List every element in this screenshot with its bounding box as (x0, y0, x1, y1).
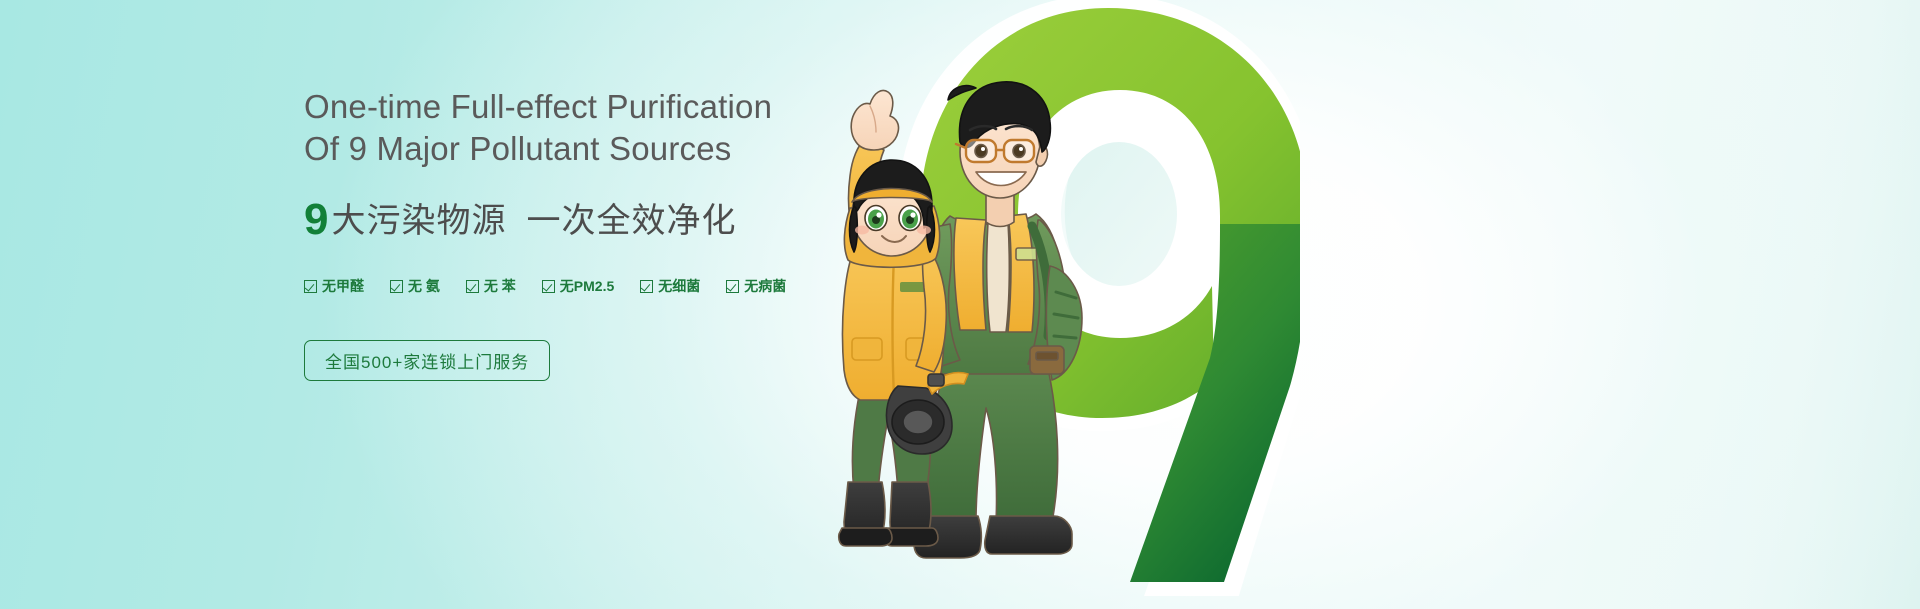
check-box-icon (466, 280, 479, 293)
check-box-icon (390, 280, 403, 293)
check-box-icon (726, 280, 739, 293)
feature-label: 无细菌 (658, 276, 700, 296)
feature-label: 无PM2.5 (560, 276, 614, 296)
feature-item: 无甲醛 (304, 276, 364, 296)
franchise-service-button[interactable]: 全国500+家连锁上门服务 (304, 340, 550, 381)
feature-label: 无 氨 (408, 276, 440, 296)
feature-item: 无病菌 (726, 276, 786, 296)
headline-chinese-part2: 一次全效净化 (526, 204, 736, 238)
promo-banner: One-time Full-effect Purification Of 9 M… (0, 0, 1920, 609)
feature-checklist: 无甲醛 无 氨 无 苯 无PM2.5 无细菌 无病菌 (304, 276, 944, 296)
headline-english: One-time Full-effect Purification Of 9 M… (304, 86, 944, 170)
headline-chinese: 9 大污染物源 一次全效净化 (304, 196, 944, 240)
check-box-icon (640, 280, 653, 293)
check-box-icon (542, 280, 555, 293)
feature-label: 无 苯 (484, 276, 516, 296)
headline-chinese-part1: 大污染物源 (331, 204, 506, 238)
feature-item: 无 氨 (390, 276, 440, 296)
feature-item: 无 苯 (466, 276, 516, 296)
check-box-icon (304, 280, 317, 293)
feature-label: 无甲醛 (322, 276, 364, 296)
banner-text-column: One-time Full-effect Purification Of 9 M… (304, 86, 944, 381)
feature-item: 无细菌 (640, 276, 700, 296)
feature-label: 无病菌 (744, 276, 786, 296)
headline-number-nine: 9 (304, 198, 329, 242)
feature-item: 无PM2.5 (542, 276, 614, 296)
